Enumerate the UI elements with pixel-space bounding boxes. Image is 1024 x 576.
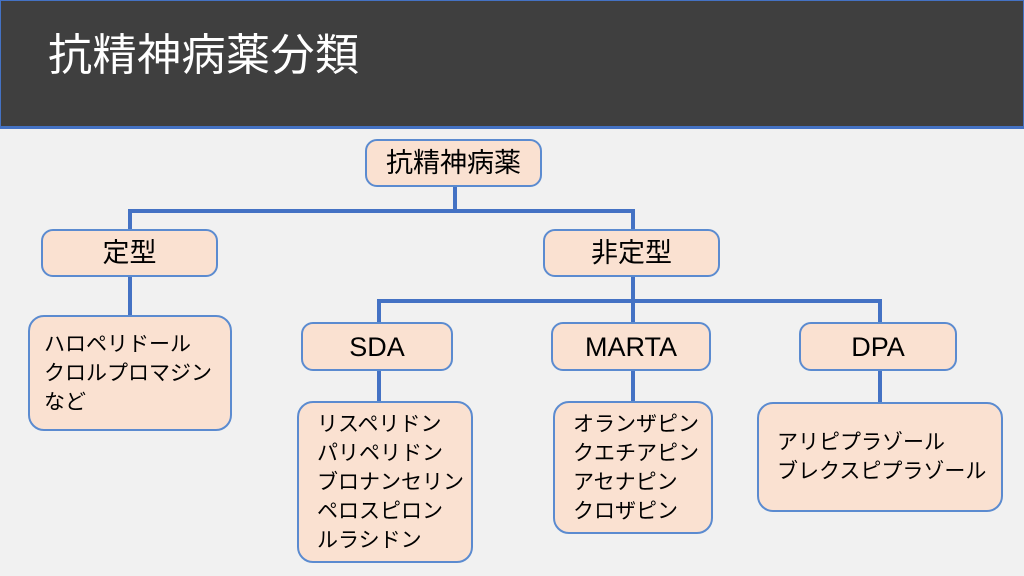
- node-sda-label: SDA: [349, 330, 405, 364]
- node-marta-label: MARTA: [585, 330, 677, 364]
- list-item: ブロナンセリン: [317, 468, 457, 497]
- list-item: クロルプロマジン: [44, 359, 216, 388]
- list-item: ルラシドン: [317, 526, 457, 555]
- node-dpa[interactable]: DPA: [799, 322, 957, 371]
- list-dpa-drugs[interactable]: アリピプラゾール ブレクスピプラゾール: [757, 402, 1003, 512]
- list-item: クロザピン: [573, 497, 697, 526]
- connector-atypical-stem: [631, 276, 635, 301]
- node-atypical-label: 非定型: [591, 236, 672, 270]
- connector-level2-bus: [128, 209, 635, 213]
- list-item: アセナピン: [573, 468, 697, 497]
- list-typical-drugs[interactable]: ハロペリドール クロルプロマジン など: [28, 315, 232, 431]
- slide-canvas: 抗精神病薬分類 抗精神病薬 定型 非定型 ハロペリドール クロルプロマジン など…: [0, 0, 1024, 576]
- node-typical[interactable]: 定型: [41, 229, 218, 277]
- list-item: パリペリドン: [317, 439, 457, 468]
- node-dpa-label: DPA: [851, 330, 905, 364]
- connector-dpa-to-drugs: [878, 370, 882, 406]
- list-item: など: [44, 388, 216, 417]
- list-item: アリピプラゾール: [777, 428, 987, 457]
- list-item: ハロペリドール: [44, 330, 216, 359]
- list-item: ブレクスピプラゾール: [777, 457, 987, 486]
- list-item: オランザピン: [573, 410, 697, 439]
- list-sda-drugs[interactable]: リスペリドン パリペリドン ブロナンセリン ペロスピロン ルラシドン: [297, 401, 473, 563]
- node-typical-label: 定型: [103, 236, 157, 270]
- node-root-antipsychotics[interactable]: 抗精神病薬: [365, 139, 542, 187]
- node-root-label: 抗精神病薬: [386, 146, 521, 180]
- node-marta[interactable]: MARTA: [551, 322, 711, 371]
- list-item: リスペリドン: [317, 410, 457, 439]
- page-title: 抗精神病薬分類: [48, 28, 360, 84]
- connector-level3-bus: [377, 299, 882, 303]
- list-item: ペロスピロン: [317, 497, 457, 526]
- list-marta-drugs[interactable]: オランザピン クエチアピン アセナピン クロザピン: [553, 401, 713, 534]
- connector-typical-to-drugs: [128, 276, 132, 316]
- node-atypical[interactable]: 非定型: [543, 229, 720, 277]
- node-sda[interactable]: SDA: [301, 322, 453, 371]
- list-item: クエチアピン: [573, 439, 697, 468]
